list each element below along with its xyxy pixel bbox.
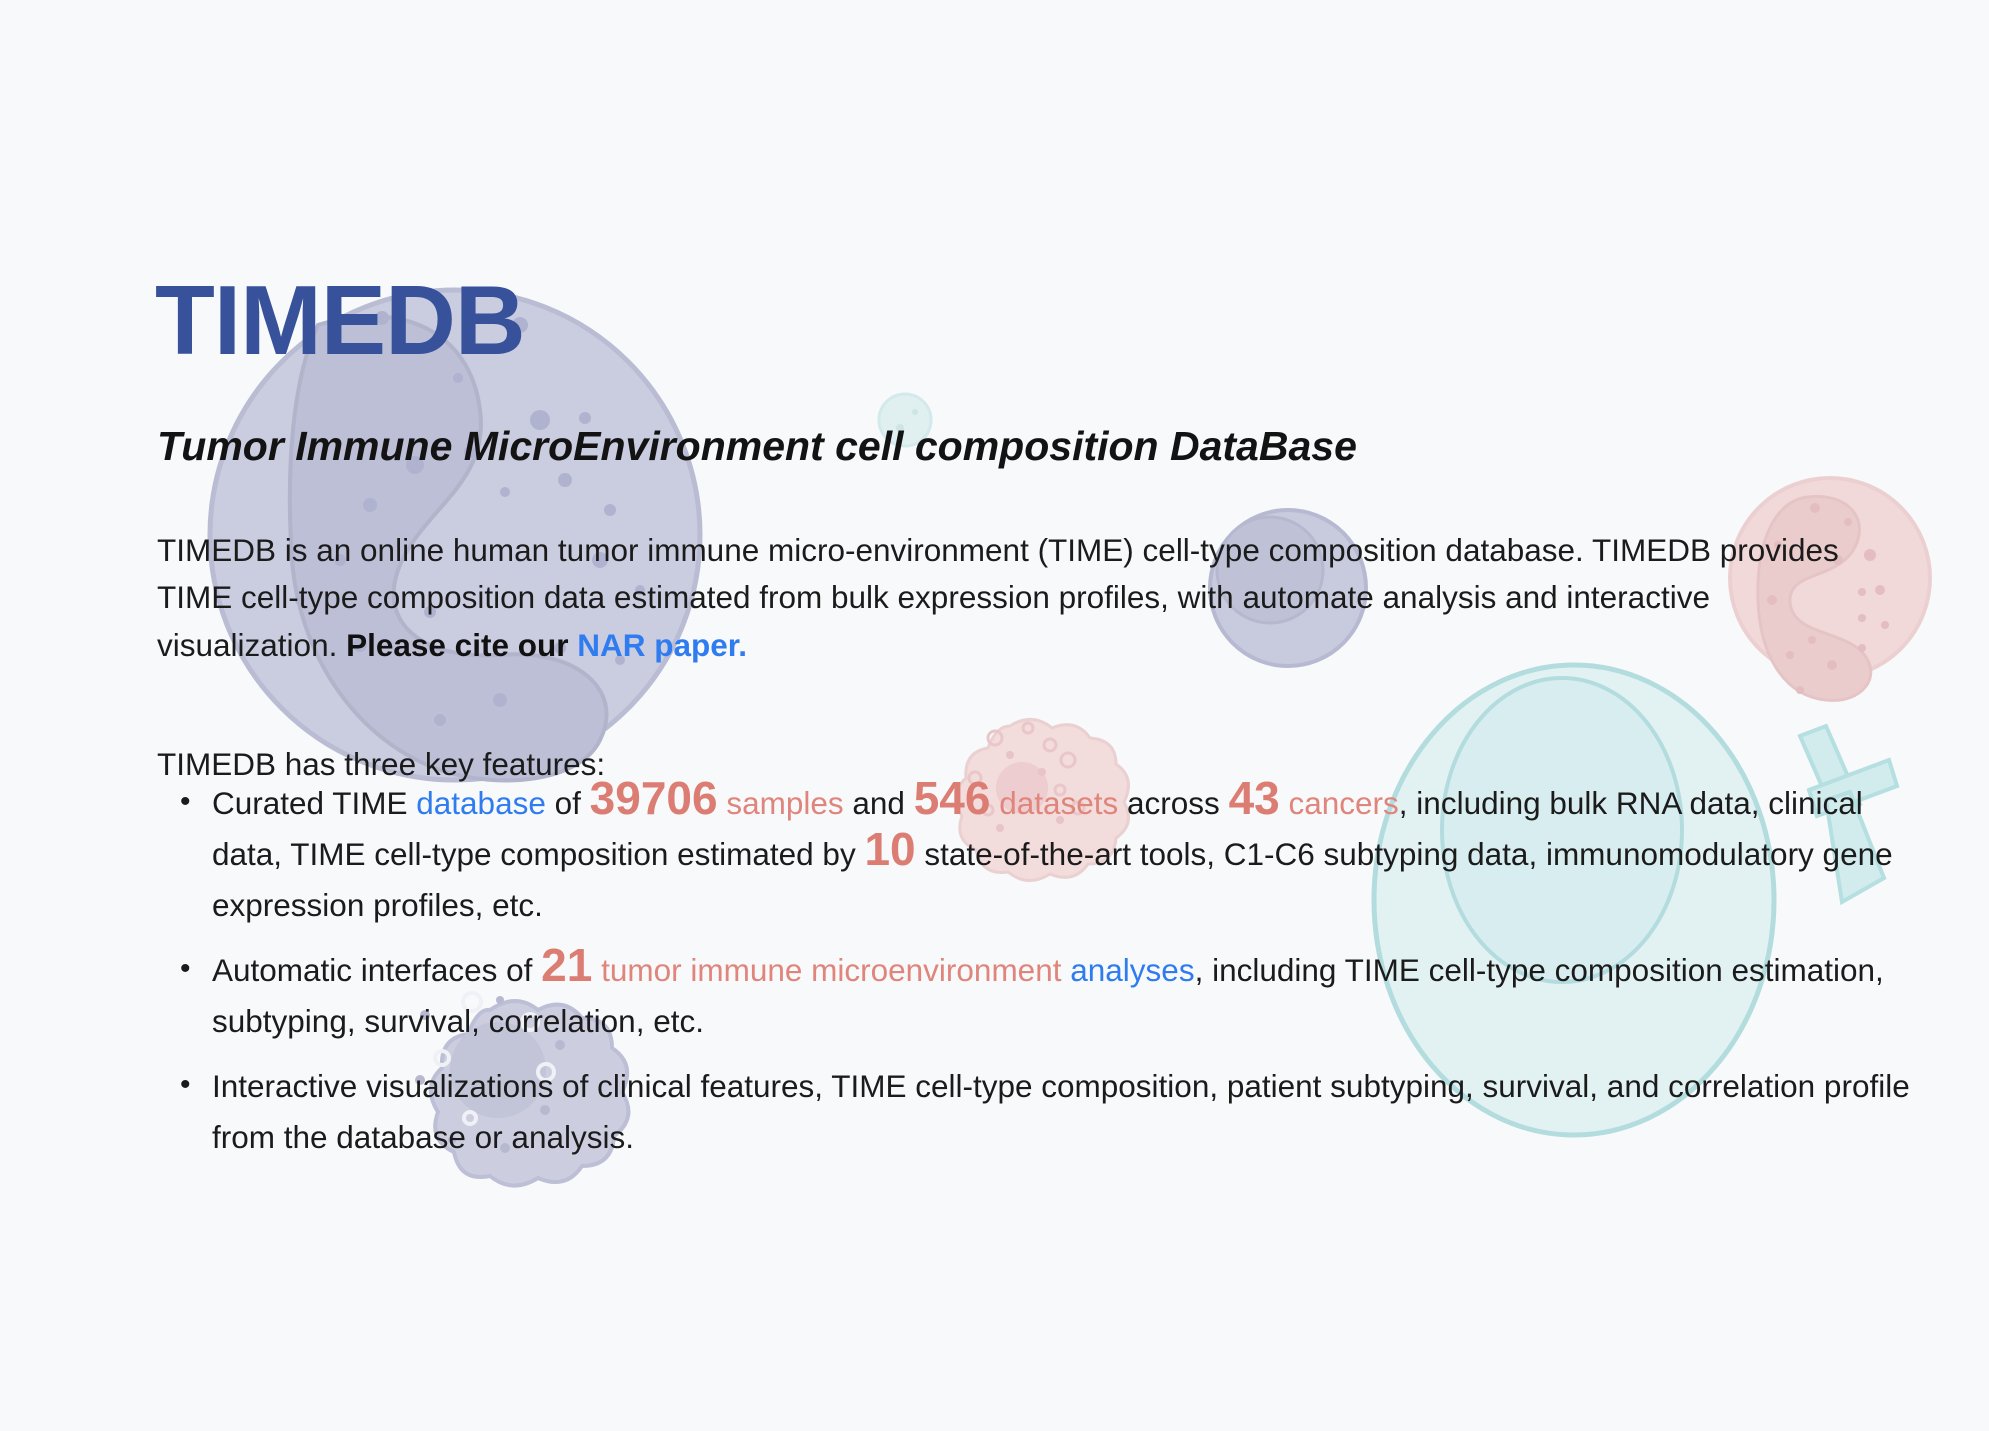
stat-tools-count: 10	[864, 823, 915, 875]
list-item: Automatic interfaces of 21 tumor immune …	[212, 945, 1932, 1047]
stat-cancers-label: cancers	[1280, 785, 1399, 821]
bullet1-text-4: across	[1118, 785, 1228, 821]
bullet2-text-1: Automatic interfaces of	[212, 952, 541, 988]
analyses-link[interactable]: analyses	[1070, 952, 1194, 988]
list-item: Interactive visualizations of clinical f…	[212, 1061, 1932, 1163]
bullet1-text-2: of	[546, 785, 590, 821]
stat-cancers-count: 43	[1229, 772, 1280, 824]
database-link[interactable]: database	[416, 785, 546, 821]
cite-prefix: Please cite our	[346, 627, 577, 663]
bullet2-space	[1061, 952, 1070, 988]
stat-datasets-label: datasets	[990, 785, 1118, 821]
stat-samples-count: 39706	[590, 772, 718, 824]
stat-samples-label: samples	[718, 785, 844, 821]
page-title: TIMEDB	[155, 271, 525, 369]
nar-paper-link[interactable]: NAR paper.	[577, 627, 747, 663]
features-list: Curated TIME database of 39706 samples a…	[157, 778, 1932, 1163]
stat-analyses-count: 21	[541, 939, 592, 991]
page-subtitle: Tumor Immune MicroEnvironment cell compo…	[157, 422, 1357, 471]
bullet1-text-1: Curated TIME	[212, 785, 416, 821]
list-item: Curated TIME database of 39706 samples a…	[212, 778, 1932, 931]
stat-analyses-label: tumor immune microenvironment	[592, 952, 1061, 988]
stat-datasets-count: 546	[914, 772, 991, 824]
bullet3-text: Interactive visualizations of clinical f…	[212, 1068, 1910, 1155]
intro-paragraph: TIMEDB is an online human tumor immune m…	[157, 527, 1847, 671]
features-lead: TIMEDB has three key features:	[157, 746, 605, 783]
bullet1-text-3: and	[844, 785, 914, 821]
